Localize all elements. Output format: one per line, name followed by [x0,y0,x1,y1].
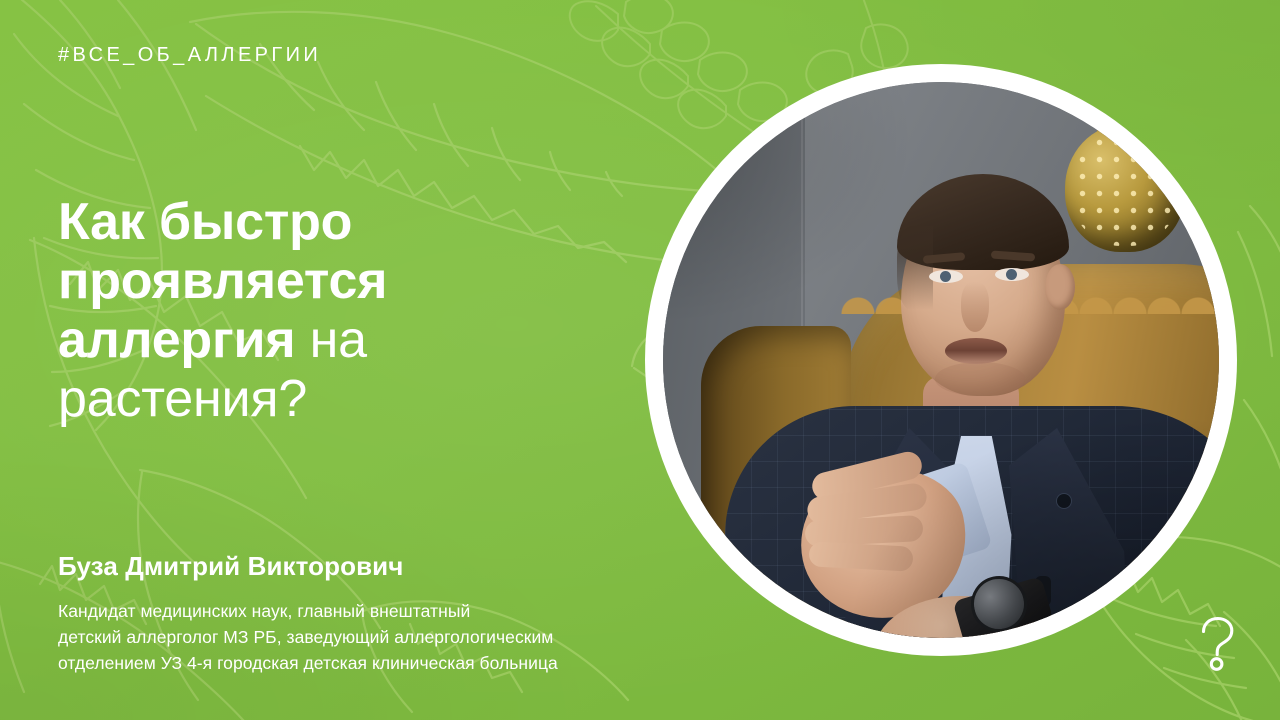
photo-nose [961,282,989,332]
slide-canvas: #ВСЕ_ОБ_АЛЛЕРГИИ Как быстропроявляетсяал… [0,0,1280,720]
photo-gold-vase [1065,124,1185,252]
credentials-line-3: отделением УЗ 4-я городская детская клин… [58,650,818,676]
title-bold-line-2: проявляется [58,252,387,310]
photo-hair-sideburn [897,226,933,310]
page-title: Как быстропроявляетсяаллергия нарастения… [58,193,528,429]
speaker-portrait [645,64,1237,656]
photo-mouth [945,338,1007,364]
title-light-plants: растения? [58,370,307,428]
credentials-line-2: детский аллерголог МЗ РБ, заведующий алл… [58,624,818,650]
title-bold-line-1: Как быстро [58,193,352,251]
portrait-photo-clip [663,82,1219,638]
photo-ear [1045,264,1075,310]
speaker-credentials: Кандидат медицинских наук, главный внешт… [58,598,818,676]
photo-chin [935,362,1025,396]
credentials-line-1: Кандидат медицинских наук, главный внешт… [58,598,818,624]
title-bold-word-allergy: аллергия [58,311,295,369]
portrait-photo [663,82,1219,638]
photo-suit-button [1057,494,1071,508]
speaker-name: Буза Дмитрий Викторович [58,551,403,582]
photo-eye-left [929,270,963,283]
title-light-na: на [295,311,366,369]
photo-eye-right [995,268,1029,281]
hashtag-label: #ВСЕ_ОБ_АЛЛЕРГИИ [58,44,321,67]
question-mark-icon [1198,616,1238,672]
